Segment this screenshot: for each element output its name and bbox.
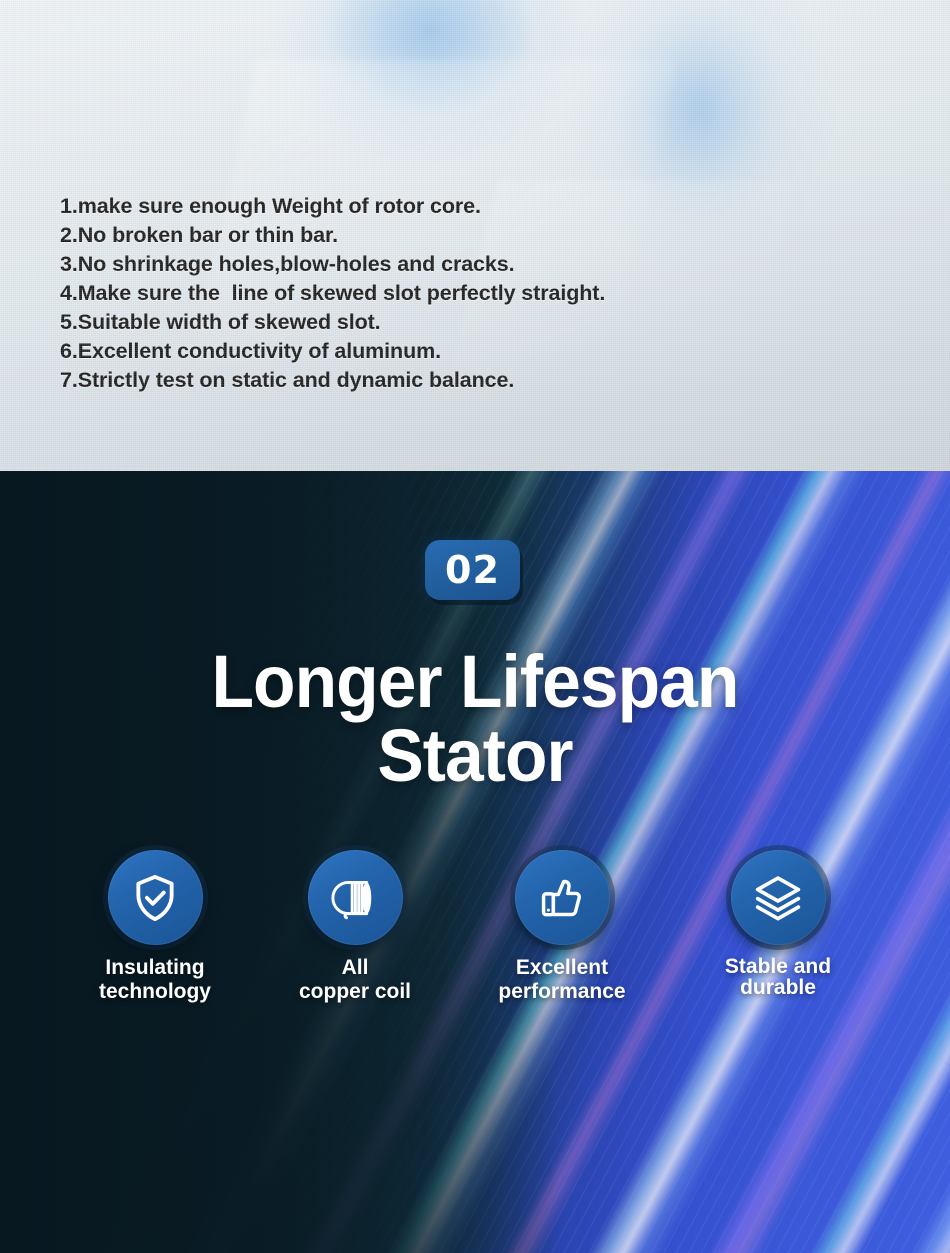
layers-icon	[752, 872, 804, 924]
thumbs-up-icon	[536, 872, 588, 924]
feature-icon-circle	[308, 850, 403, 945]
list-item: 3.No shrinkage holes,blow-holes and crac…	[60, 250, 760, 279]
feature-label: Stable and durable	[683, 956, 873, 998]
list-item: 2.No broken bar or thin bar.	[60, 221, 760, 250]
section-number-badge: 02	[425, 540, 520, 600]
feature-icon-circle	[515, 850, 610, 945]
list-item: 4.Make sure the line of skewed slot perf…	[60, 279, 760, 308]
feature-icon-circle	[731, 850, 826, 945]
feature-label: All copper coil	[260, 956, 450, 1004]
page-title: Longer Lifespan Stator	[29, 645, 922, 793]
product-detail-page: 1.make sure enough Weight of rotor core.…	[0, 0, 950, 1253]
rotor-requirements-list: 1.make sure enough Weight of rotor core.…	[60, 192, 760, 395]
list-item: 6.Excellent conductivity of aluminum.	[60, 337, 760, 366]
shield-check-icon	[128, 871, 182, 925]
feature-item-insulating-technology: Insulating technology	[60, 850, 250, 1004]
feature-list: Insulating technology All copper coil	[0, 850, 950, 1030]
feature-icon-circle	[108, 850, 203, 945]
list-item: 1.make sure enough Weight of rotor core.	[60, 192, 760, 221]
feature-label: Insulating technology	[60, 956, 250, 1004]
rotor-shaft-image	[0, 0, 950, 210]
wire-coil-icon	[329, 872, 381, 924]
feature-label: Excellent performance	[467, 956, 657, 1004]
feature-item-excellent-performance: Excellent performance	[467, 850, 657, 1004]
list-item: 5.Suitable width of skewed slot.	[60, 308, 760, 337]
page-title-line1: Longer Lifespan	[29, 645, 922, 719]
feature-item-stable-and-durable: Stable and durable	[683, 850, 873, 998]
rotor-section: 1.make sure enough Weight of rotor core.…	[0, 0, 950, 471]
feature-item-all-copper-coil: All copper coil	[260, 850, 450, 1004]
section-number-text: 02	[445, 551, 500, 589]
list-item: 7.Strictly test on static and dynamic ba…	[60, 366, 760, 395]
page-title-line2: Stator	[29, 719, 922, 793]
